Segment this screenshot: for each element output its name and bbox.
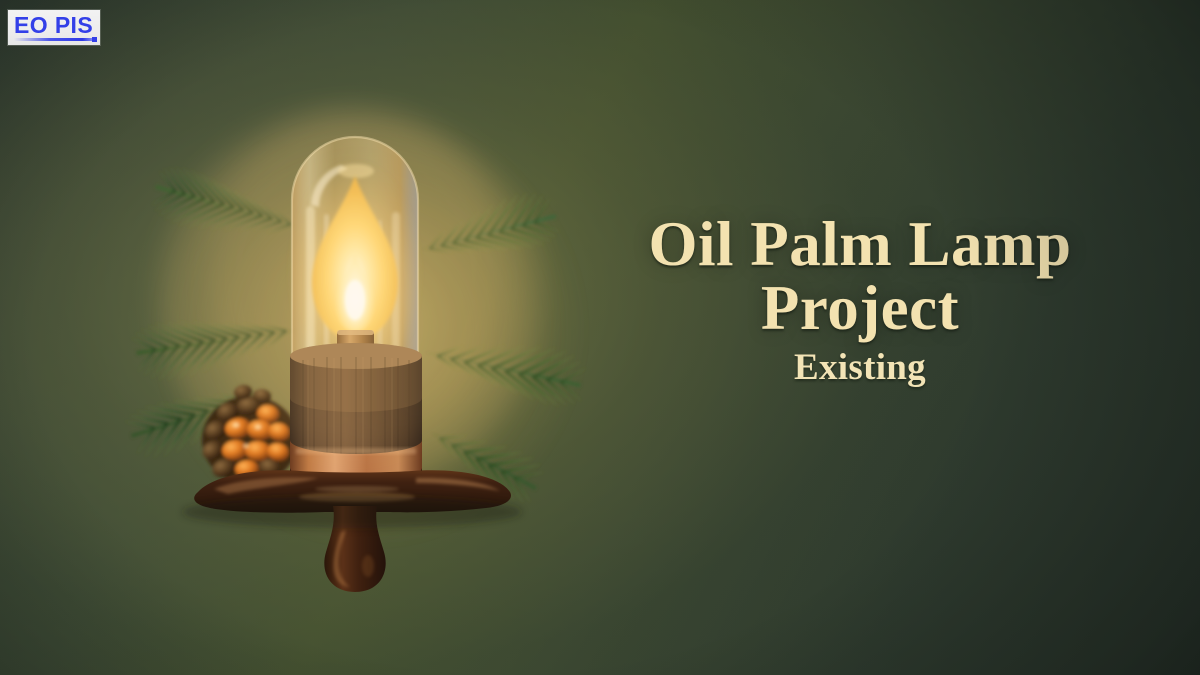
logo-dot: [92, 37, 97, 42]
page-title-line-1: Oil Palm Lamp: [600, 212, 1120, 276]
page-title-line-2: Project: [600, 276, 1120, 340]
eo-pis-logo[interactable]: EO PIS: [8, 10, 100, 45]
logo-text: EO PIS: [14, 13, 93, 38]
logo-underline: [14, 38, 92, 41]
page-subtitle: Existing: [600, 346, 1120, 390]
oil-palm-lamp-illustration: [0, 0, 620, 675]
title-block: Oil Palm Lamp Project Existing: [600, 212, 1120, 390]
slide-canvas: EO PIS Oil Palm Lamp Project Existing: [0, 0, 1200, 675]
